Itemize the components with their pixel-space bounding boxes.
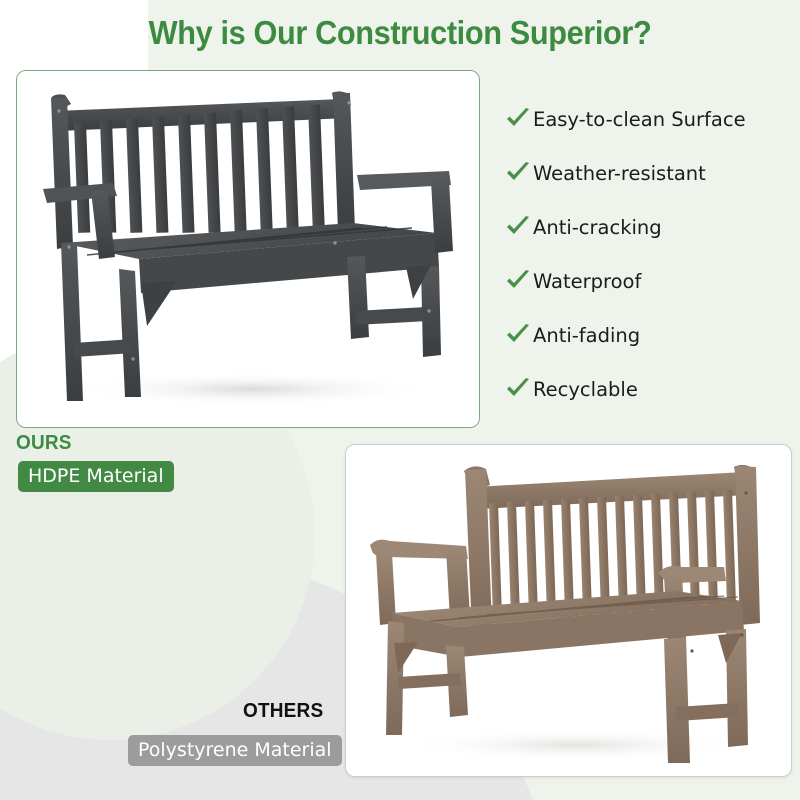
wooden-bench-illustration: [346, 445, 791, 776]
list-item: Recyclable: [505, 362, 790, 416]
feature-label: Recyclable: [533, 378, 638, 401]
others-label: OTHERS: [243, 700, 323, 723]
hdpe-bench-illustration: [17, 71, 479, 427]
ours-image-card: [16, 70, 480, 428]
check-icon: [505, 324, 533, 346]
ours-label: OURS: [16, 432, 72, 455]
page-title: Why is Our Construction Superior?: [28, 14, 772, 52]
polystyrene-material-badge: Polystyrene Material: [128, 735, 342, 766]
feature-label: Weather-resistant: [533, 162, 706, 185]
hdpe-material-badge: HDPE Material: [18, 461, 174, 492]
feature-label: Anti-cracking: [533, 216, 662, 239]
check-icon: [505, 270, 533, 292]
others-image-card: [345, 444, 792, 777]
feature-label: Easy-to-clean Surface: [533, 108, 746, 131]
list-item: Easy-to-clean Surface: [505, 92, 790, 146]
check-icon: [505, 162, 533, 184]
list-item: Anti-fading: [505, 308, 790, 362]
list-item: Anti-cracking: [505, 200, 790, 254]
feature-label: Anti-fading: [533, 324, 640, 347]
list-item: Waterproof: [505, 254, 790, 308]
check-icon: [505, 216, 533, 238]
feature-label: Waterproof: [533, 270, 641, 293]
feature-list: Easy-to-clean Surface Weather-resistant …: [505, 92, 790, 416]
check-icon: [505, 378, 533, 400]
check-icon: [505, 108, 533, 130]
infographic-canvas: Why is Our Construction Superior?: [0, 0, 800, 800]
list-item: Weather-resistant: [505, 146, 790, 200]
